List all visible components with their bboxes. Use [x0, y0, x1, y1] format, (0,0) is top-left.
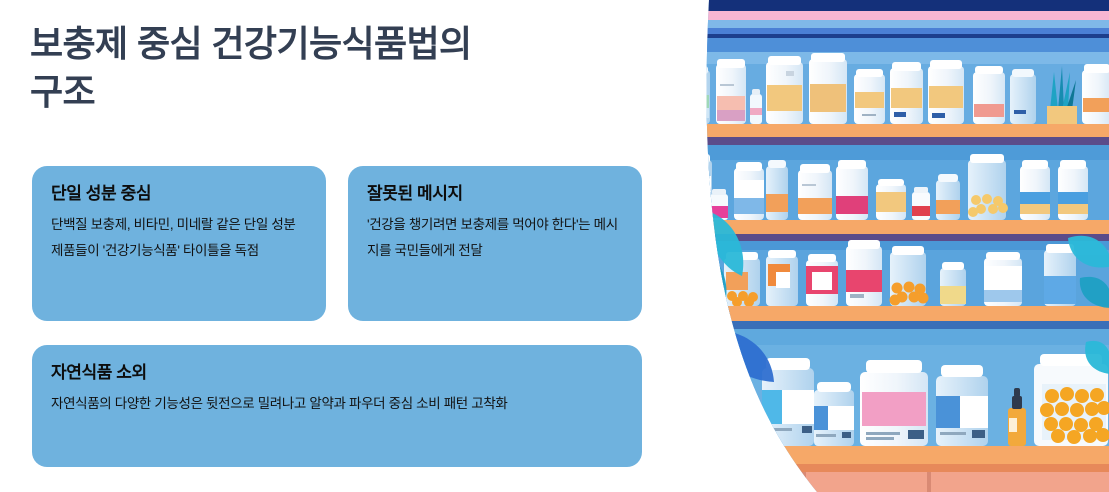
left-content-pane: 보충제 중심 건강기능식품법의 구조 단일 성분 중심 단백질 보충제, 비타민… — [0, 0, 662, 492]
slide-root: 보충제 중심 건강기능식품법의 구조 단일 성분 중심 단백질 보충제, 비타민… — [0, 0, 1109, 492]
card-body: '건강을 챙기려면 보충제를 먹어야 한다'는 메시지를 국민들에게 전달 — [367, 212, 623, 264]
info-card-wrong-message: 잘못된 메시지 '건강을 챙기려면 보충제를 먹어야 한다'는 메시지를 국민들… — [348, 166, 642, 321]
shelf-illustration-svg — [662, 0, 1109, 492]
card-title: 자연식품 소외 — [51, 362, 623, 384]
info-card-single-ingredient: 단일 성분 중심 단백질 보충제, 비타민, 미네랄 같은 단일 성분 제품들이… — [32, 166, 326, 321]
info-card-natural-food-neglect: 자연식품 소외 자연식품의 다양한 기능성은 뒷전으로 밀려나고 알약과 파우더… — [32, 345, 642, 467]
card-body: 단백질 보충제, 비타민, 미네랄 같은 단일 성분 제품들이 '건강기능식품'… — [51, 212, 307, 264]
page-title: 보충제 중심 건강기능식품법의 구조 — [30, 20, 635, 115]
supplement-shelf-illustration — [662, 0, 1109, 492]
card-title: 잘못된 메시지 — [367, 183, 623, 205]
card-title: 단일 성분 중심 — [51, 183, 307, 205]
card-body: 자연식품의 다양한 기능성은 뒷전으로 밀려나고 알약과 파우더 중심 소비 패… — [51, 391, 623, 417]
